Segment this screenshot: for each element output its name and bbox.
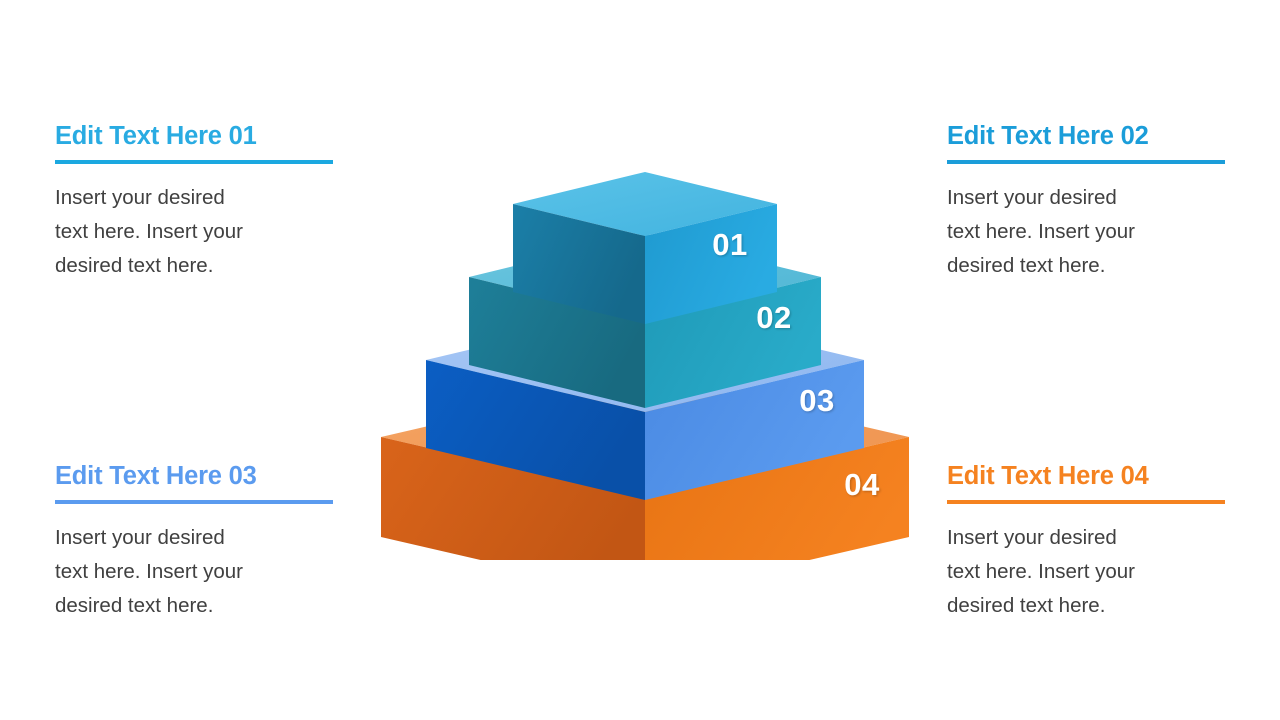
pyramid-layer-04-number: 04 bbox=[844, 467, 880, 502]
pyramid-layer-01-number: 01 bbox=[712, 227, 747, 262]
text-block-02[interactable]: Edit Text Here 02 Insert your desired te… bbox=[947, 123, 1225, 283]
text-block-01-title[interactable]: Edit Text Here 01 bbox=[55, 123, 333, 150]
text-block-04[interactable]: Edit Text Here 04 Insert your desired te… bbox=[947, 463, 1225, 623]
text-block-01[interactable]: Edit Text Here 01 Insert your desired te… bbox=[55, 123, 333, 283]
text-block-04-body[interactable]: Insert your desired text here. Insert yo… bbox=[947, 504, 1225, 623]
text-block-03-title[interactable]: Edit Text Here 03 bbox=[55, 463, 333, 490]
pyramid-layer-03-number: 03 bbox=[799, 383, 834, 418]
text-block-01-body[interactable]: Insert your desired text here. Insert yo… bbox=[55, 164, 333, 283]
pyramid-diagram: 04 03 02 01 bbox=[360, 160, 920, 560]
pyramid-layer-02-number: 02 bbox=[756, 300, 791, 335]
text-block-04-title[interactable]: Edit Text Here 04 bbox=[947, 463, 1225, 490]
pyramid-layer-01[interactable]: 01 bbox=[513, 172, 777, 324]
text-block-03[interactable]: Edit Text Here 03 Insert your desired te… bbox=[55, 463, 333, 623]
text-block-03-body[interactable]: Insert your desired text here. Insert yo… bbox=[55, 504, 333, 623]
text-block-02-title[interactable]: Edit Text Here 02 bbox=[947, 123, 1225, 150]
slide-canvas: Edit Text Here 01 Insert your desired te… bbox=[0, 0, 1280, 720]
pyramid-svg: 04 03 02 01 bbox=[360, 160, 920, 560]
text-block-02-body[interactable]: Insert your desired text here. Insert yo… bbox=[947, 164, 1225, 283]
